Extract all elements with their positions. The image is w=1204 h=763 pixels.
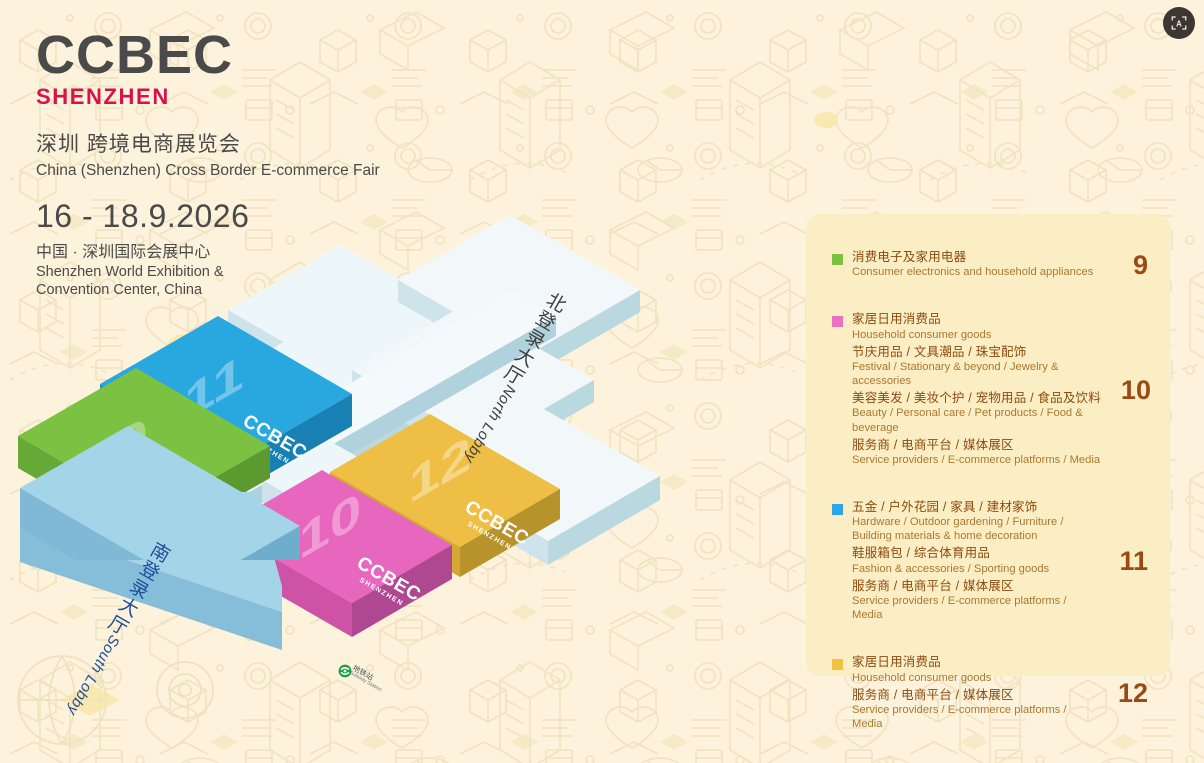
venue-name-en: Shenzhen World Exhibition & Convention C…	[36, 263, 266, 299]
legend-swatch-hall-12	[832, 659, 843, 670]
legend-cn-10-1: 节庆用品 / 文具潮品 / 珠宝配饰	[852, 345, 1101, 360]
brand-subtitle: SHENZHEN	[36, 86, 496, 108]
event-title-cn: 深圳 跨境电商展览会	[36, 128, 496, 158]
poster-header: CCBEC SHENZHEN 深圳 跨境电商展览会 China (Shenzhe…	[36, 28, 496, 299]
legend-en-11-0: Hardware / Outdoor gardening / Furniture…	[852, 515, 1090, 543]
legend-cn-11-0: 五金 / 户外花园 / 家具 / 建材家饰	[852, 500, 1098, 515]
legend-swatch-hall-9	[832, 254, 843, 265]
legend-cn-9-0: 消费电子及家用电器	[852, 250, 1098, 265]
legend-en-9-0: Consumer electronics and household appli…	[852, 265, 1098, 279]
focus-frame-a-icon: A	[1170, 14, 1188, 32]
hall-legend-panel: 消费电子及家用电器 Consumer electronics and house…	[806, 214, 1170, 676]
legend-cn-11-2: 服务商 / 电商平台 / 媒体展区	[852, 579, 1098, 594]
legend-row-hall-9[interactable]: 消费电子及家用电器 Consumer electronics and house…	[832, 250, 1148, 280]
legend-hall-number-10: 10	[1107, 377, 1151, 404]
legend-en-12-1: Service providers / E-commerce platforms…	[852, 703, 1098, 731]
legend-en-10-0: Household consumer goods	[852, 328, 1101, 342]
venue-name-cn: 中国 · 深圳国际会展中心	[36, 238, 496, 262]
legend-cn-10-0: 家居日用消费品	[852, 312, 1101, 327]
legend-en-11-1: Fashion & accessories / Sporting goods	[852, 562, 1098, 576]
event-date: 16 - 18.9.2026	[36, 200, 496, 234]
legend-body-hall-12: 家居日用消费品 Household consumer goods 服务商 / 电…	[852, 655, 1104, 732]
legend-cn-10-2: 美容美发 / 美妆个护 / 宠物用品 / 食品及饮料	[852, 391, 1101, 406]
legend-cn-10-3: 服务商 / 电商平台 / 媒体展区	[852, 438, 1101, 453]
legend-row-hall-10[interactable]: 家居日用消费品 Household consumer goods 节庆用品 / …	[832, 312, 1148, 468]
legend-hall-number-11: 11	[1104, 548, 1148, 575]
svg-text:A: A	[1176, 19, 1182, 28]
legend-swatch-hall-11	[832, 504, 843, 515]
legend-body-hall-10: 家居日用消费品 Household consumer goods 节庆用品 / …	[852, 312, 1107, 468]
legend-hall-number-9: 9	[1104, 252, 1148, 279]
legend-en-10-2: Beauty / Personal care / Pet products / …	[852, 406, 1101, 434]
legend-en-11-2: Service providers / E-commerce platforms…	[852, 594, 1098, 622]
legend-cn-11-1: 鞋服箱包 / 综合体育用品	[852, 546, 1098, 561]
legend-en-10-3: Service providers / E-commerce platforms…	[852, 453, 1101, 467]
legend-swatch-hall-10	[832, 316, 843, 327]
legend-hall-number-12: 12	[1104, 680, 1148, 707]
subway-station-marker[interactable]: 地铁站 Subway Station	[338, 664, 391, 678]
accessibility-focus-button[interactable]: A	[1163, 7, 1195, 39]
legend-row-hall-12[interactable]: 家居日用消费品 Household consumer goods 服务商 / 电…	[832, 655, 1148, 732]
brand-title: CCBEC	[36, 28, 496, 82]
legend-row-hall-11[interactable]: 五金 / 户外花园 / 家具 / 建材家饰 Hardware / Outdoor…	[832, 500, 1148, 623]
legend-en-10-1: Festival / Stationary & beyond / Jewelry…	[852, 360, 1101, 388]
legend-body-hall-9: 消费电子及家用电器 Consumer electronics and house…	[852, 250, 1104, 280]
legend-cn-12-0: 家居日用消费品	[852, 655, 1098, 670]
event-title-en: China (Shenzhen) Cross Border E-commerce…	[36, 162, 496, 180]
legend-en-12-0: Household consumer goods	[852, 671, 1098, 685]
legend-cn-12-1: 服务商 / 电商平台 / 媒体展区	[852, 688, 1098, 703]
expo-floorplan-poster: 11 CCBEC SHENZHEN 9 CCBEC SHENZHEN	[0, 0, 1204, 763]
legend-body-hall-11: 五金 / 户外花园 / 家具 / 建材家饰 Hardware / Outdoor…	[852, 500, 1104, 623]
